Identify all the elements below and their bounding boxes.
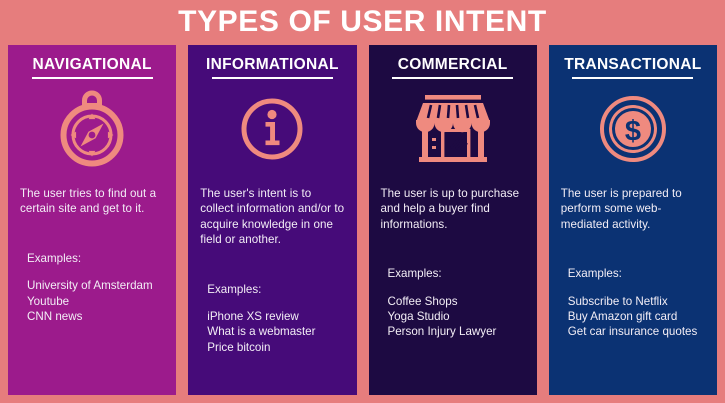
panel-heading-informational: INFORMATIONAL [200, 55, 344, 77]
infographic-poster: TYPES OF USER INTENT NAVIGATIONAL [0, 0, 725, 403]
intent-panel-informational: INFORMATIONAL The user's intent is to co… [188, 45, 356, 395]
panel-description-commercial: The user is up to purchase and help a bu… [381, 186, 525, 232]
examples-label-commercial: Examples: [388, 266, 525, 281]
examples-label-informational: Examples: [207, 282, 344, 297]
heading-underline [392, 77, 513, 79]
heading-underline [32, 77, 153, 79]
example-item: What is a webmaster [207, 324, 344, 339]
intent-panel-navigational: NAVIGATIONAL [8, 45, 176, 395]
examples-list-transactional: Subscribe to Netflix Buy Amazon gift car… [568, 294, 705, 340]
example-item: Get car insurance quotes [568, 324, 705, 339]
panel-description-transactional: The user is prepared to perform some web… [561, 186, 705, 232]
example-item: Coffee Shops [388, 294, 525, 309]
info-circle-icon [200, 86, 344, 172]
heading-underline [212, 77, 333, 79]
storefront-icon [381, 86, 525, 172]
example-item: Price bitcoin [207, 340, 344, 355]
intent-panel-transactional: TRANSACTIONAL $ The user is prepared to … [549, 45, 717, 395]
panel-description-navigational: The user tries to find out a certain sit… [20, 186, 164, 217]
examples-list-commercial: Coffee Shops Yoga Studio Person Injury L… [388, 294, 525, 340]
panel-heading-commercial: COMMERCIAL [381, 55, 525, 77]
intent-panel-commercial: COMMERCIAL [369, 45, 537, 395]
panel-heading-navigational: NAVIGATIONAL [20, 55, 164, 77]
example-item: Yoga Studio [388, 309, 525, 324]
example-item: Youtube [27, 294, 164, 309]
example-item: Person Injury Lawyer [388, 324, 525, 339]
examples-label-transactional: Examples: [568, 266, 705, 281]
intent-columns: NAVIGATIONAL [8, 45, 717, 395]
example-item: iPhone XS review [207, 309, 344, 324]
panel-description-informational: The user's intent is to collect informat… [200, 186, 344, 248]
heading-underline [572, 77, 693, 79]
example-item: Subscribe to Netflix [568, 294, 705, 309]
examples-list-informational: iPhone XS review What is a webmaster Pri… [207, 309, 344, 355]
compass-icon [20, 86, 164, 172]
svg-text:$: $ [625, 116, 641, 148]
example-item: CNN news [27, 309, 164, 324]
example-item: Buy Amazon gift card [568, 309, 705, 324]
panel-heading-transactional: TRANSACTIONAL [561, 55, 705, 77]
page-title: TYPES OF USER INTENT [0, 4, 725, 40]
examples-label-navigational: Examples: [27, 251, 164, 266]
examples-list-navigational: University of Amsterdam Youtube CNN news [27, 278, 164, 324]
example-item: University of Amsterdam [27, 278, 164, 293]
dollar-coin-icon: $ [561, 86, 705, 172]
